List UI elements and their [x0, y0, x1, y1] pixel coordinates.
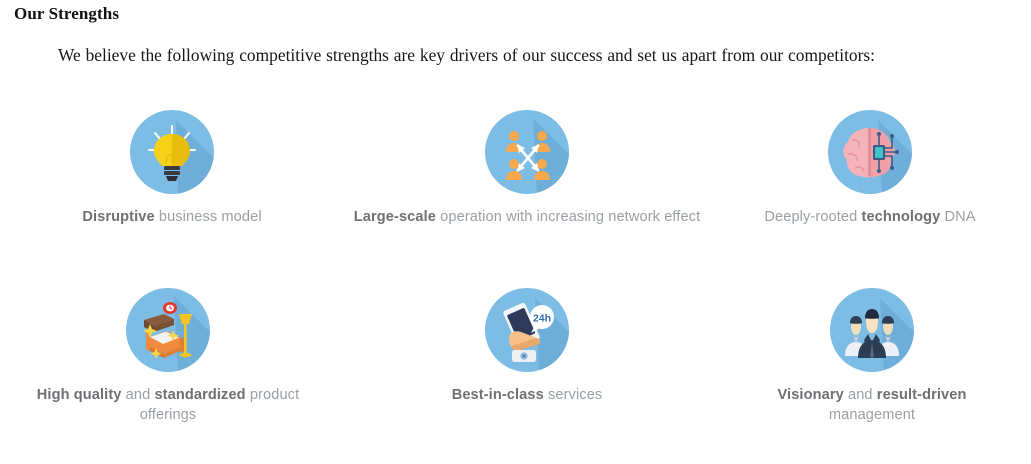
- strengths-row-top: Disruptive business model: [0, 104, 1031, 282]
- hand-phone-24h-icon: 24h: [485, 288, 569, 372]
- strength-label-emphasis: Visionary: [777, 387, 843, 403]
- strength-label-emphasis-2: result-driven: [877, 387, 967, 403]
- strengths-grid: Disruptive business model: [0, 104, 1031, 464]
- strength-label: Deeply-rooted technology DNA: [762, 207, 978, 227]
- strength-label: Best-in-class services: [385, 385, 669, 405]
- strength-label-rest-2: management: [829, 407, 915, 423]
- strength-label-emphasis: Best-in-class: [452, 387, 544, 403]
- business-team-icon: [830, 288, 914, 372]
- strength-label: Disruptive business model: [50, 207, 294, 227]
- strength-label-rest-2: DNA: [940, 209, 975, 225]
- strength-label: Visionary and result-driven management: [744, 385, 1000, 425]
- strength-card-visionary-management[interactable]: Visionary and result-driven management: [744, 288, 1000, 425]
- strength-card-disruptive-business-model[interactable]: Disruptive business model: [50, 110, 294, 227]
- strength-card-high-quality-products[interactable]: High quality and standardized product of…: [24, 288, 312, 425]
- strength-label-rest: business model: [155, 209, 262, 225]
- lightbulb-icon: [130, 110, 214, 194]
- strength-label-rest: and: [844, 387, 877, 403]
- strength-card-best-in-class-services[interactable]: 24h Best-in-class services: [385, 288, 669, 405]
- strength-label-emphasis: Large-scale: [354, 209, 436, 225]
- strength-label-emphasis: technology: [862, 209, 941, 225]
- badge-24h-text: 24h: [533, 313, 551, 325]
- bedroom-furniture-icon: [126, 288, 210, 372]
- network-people-icon: [485, 110, 569, 194]
- strength-label-emphasis-2: standardized: [154, 387, 245, 403]
- intro-paragraph: We believe the following competitive str…: [14, 42, 1017, 68]
- strength-label: Large-scale operation with increasing ne…: [343, 207, 711, 227]
- strength-label-rest: and: [122, 387, 155, 403]
- strength-label-rest: operation with increasing network effect: [436, 209, 700, 225]
- page-title: Our Strengths: [14, 4, 119, 24]
- strength-label: High quality and standardized product of…: [24, 385, 312, 425]
- strengths-row-bottom: High quality and standardized product of…: [0, 282, 1031, 460]
- strength-card-large-scale-operation[interactable]: Large-scale operation with increasing ne…: [343, 110, 711, 227]
- strength-card-technology-dna[interactable]: Deeply-rooted technology DNA: [762, 110, 978, 227]
- strength-label-emphasis: High quality: [37, 387, 122, 403]
- strength-label-rest: Deeply-rooted: [764, 209, 861, 225]
- brain-chip-icon: [828, 110, 912, 194]
- strength-label-rest: services: [544, 387, 602, 403]
- strength-label-emphasis: Disruptive: [82, 209, 154, 225]
